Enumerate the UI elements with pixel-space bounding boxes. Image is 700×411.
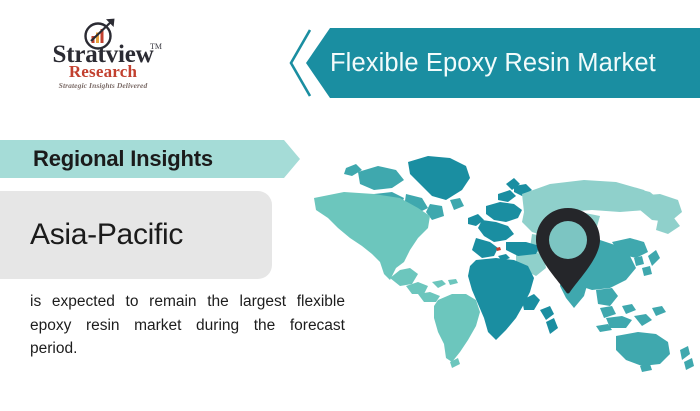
page-title: Flexible Epoxy Resin Market xyxy=(330,28,690,98)
brand-logo: Stratview TM Research Strategic Insights… xyxy=(38,16,168,94)
trademark-mark: TM xyxy=(150,42,162,51)
brand-subname: Research xyxy=(38,63,168,80)
infographic-canvas: Stratview TM Research Strategic Insights… xyxy=(0,0,700,411)
body-paragraph: is expected to remain the largest flexib… xyxy=(30,290,345,361)
brand-tagline: Strategic Insights Delivered xyxy=(38,82,168,90)
region-name: Asia-Pacific xyxy=(30,191,183,279)
map-continents xyxy=(314,156,694,372)
world-map xyxy=(300,150,700,375)
regional-insights-label: Regional Insights xyxy=(33,140,213,178)
